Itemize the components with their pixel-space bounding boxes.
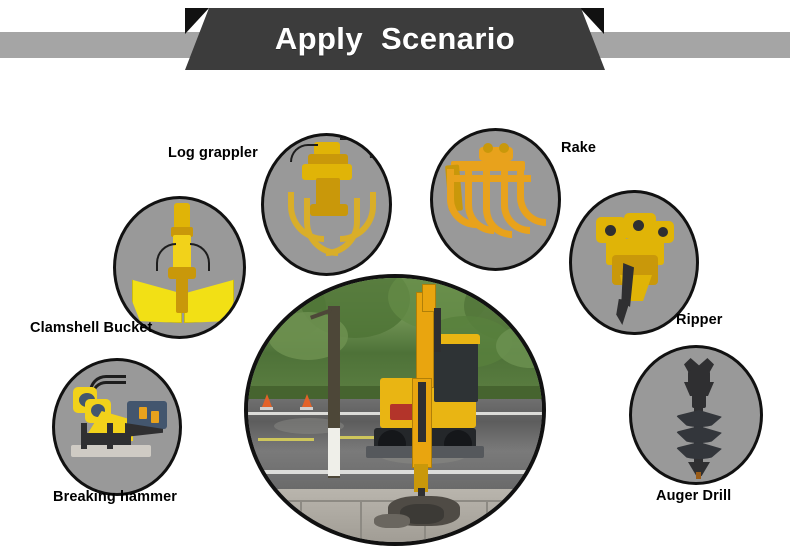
clamshell-bucket-label: Clamshell Bucket bbox=[30, 320, 152, 336]
breaking-hammer-bubble[interactable] bbox=[52, 358, 182, 496]
ripper-label: Ripper bbox=[676, 312, 723, 328]
auger-drill-bubble[interactable] bbox=[629, 345, 763, 485]
excavator-photo bbox=[248, 278, 542, 542]
log-grappler-icon bbox=[264, 136, 389, 273]
breaking-hammer-label: Breaking hammer bbox=[53, 489, 177, 505]
rake-label: Rake bbox=[561, 140, 596, 156]
clamshell-bucket-bubble[interactable] bbox=[113, 196, 246, 339]
rake-bubble[interactable] bbox=[430, 128, 561, 271]
clamshell-bucket-icon bbox=[116, 199, 243, 336]
auger-drill-label: Auger Drill bbox=[656, 488, 731, 504]
log-grappler-bubble[interactable] bbox=[261, 133, 392, 276]
page-title: Apply Scenario bbox=[185, 8, 605, 70]
banner: Apply Scenario bbox=[0, 0, 790, 90]
apply-scenario-infographic: Apply Scenario Clamshell Bucket bbox=[0, 0, 790, 553]
auger-drill-icon bbox=[632, 348, 760, 482]
breaking-hammer-icon bbox=[55, 361, 179, 493]
log-grappler-label: Log grappler bbox=[168, 145, 258, 161]
center-photo-bubble[interactable] bbox=[244, 274, 546, 546]
rake-icon bbox=[433, 131, 558, 268]
